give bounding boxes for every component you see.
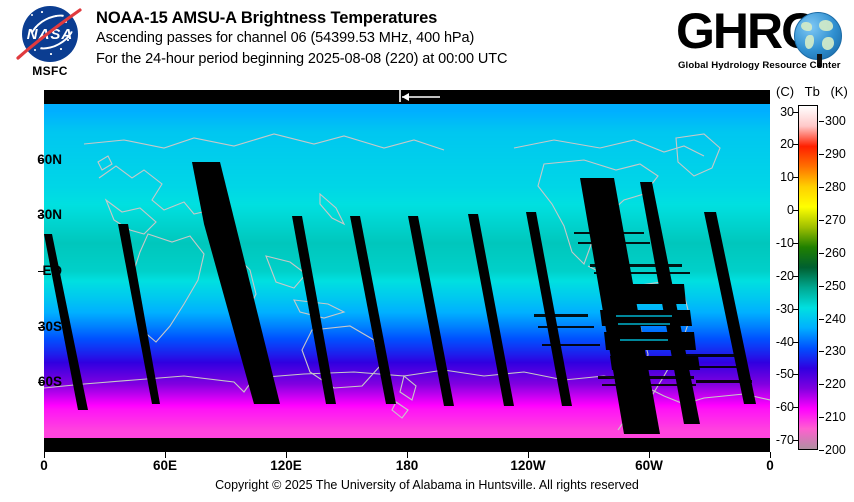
brightness-temperature-field	[44, 104, 770, 438]
colorbar-label-kelvin: 200	[825, 443, 846, 457]
colorbar-label-kelvin: 230	[825, 344, 846, 358]
page-period: For the 24-hour period beginning 2025-08…	[96, 49, 507, 70]
colorbar-label-kelvin: 220	[825, 377, 846, 391]
latitude-tick-label: EQ	[42, 263, 62, 278]
colorbar-tick-kelvin	[819, 450, 824, 451]
colorbar-label-celsius: -10	[772, 236, 794, 250]
ghrc-logo: GHRC Global Hydrology Resource Center	[676, 4, 848, 78]
longitude-tick-label: 0	[40, 458, 48, 473]
colorbar-label-kelvin: 260	[825, 246, 846, 260]
nasa-logo: NASA MSFC	[14, 6, 86, 84]
colorbar-gradient	[799, 106, 817, 449]
longitude-tick-label: 60W	[635, 458, 663, 473]
colorbar-label-celsius: -30	[772, 302, 794, 316]
colorbar-tick-kelvin	[819, 253, 824, 254]
map-plot-area	[44, 90, 770, 452]
colorbar-label-celsius: -50	[772, 367, 794, 381]
colorbar-tick-kelvin	[819, 154, 824, 155]
colorbar-label-celsius: 0	[772, 203, 794, 217]
satellite-swath-gaps	[44, 104, 770, 438]
colorbar-header: (C) Tb (K)	[776, 84, 848, 99]
colorbar-label-celsius: -20	[772, 269, 794, 283]
nasa-center-label: MSFC	[14, 64, 86, 78]
colorbar-tick-kelvin	[819, 220, 824, 221]
colorbar-label-kelvin: 270	[825, 213, 846, 227]
nasa-wordmark: NASA	[22, 26, 78, 43]
colorbar-tick-kelvin	[819, 351, 824, 352]
map-bottom-border	[44, 438, 770, 452]
colorbar-unit-celsius: (C)	[776, 84, 794, 99]
colorbar-label-kelvin: 240	[825, 312, 846, 326]
colorbar-label-kelvin: 300	[825, 114, 846, 128]
longitude-tick-label: 120W	[510, 458, 545, 473]
left-arrow-marker-icon	[396, 90, 442, 103]
colorbar-tick-kelvin	[819, 417, 824, 418]
colorbar-label-celsius: -70	[772, 433, 794, 447]
longitude-tick-label: 0	[766, 458, 774, 473]
title-block: NOAA-15 AMSU-A Brightness Temperatures A…	[96, 8, 507, 70]
latitude-tick-label: 60N	[37, 152, 62, 167]
colorbar-label-celsius: 10	[772, 170, 794, 184]
colorbar-label-kelvin: 210	[825, 410, 846, 424]
globe-icon	[794, 12, 842, 60]
brightness-temperature-map-page: NASA MSFC NOAA-15 AMSU-A Brightness Temp…	[0, 0, 854, 502]
colorbar-label-celsius: -40	[772, 335, 794, 349]
colorbar-label-celsius: 20	[772, 137, 794, 151]
colorbar	[798, 105, 818, 450]
colorbar-tick-kelvin	[819, 286, 824, 287]
colorbar-label-kelvin: 250	[825, 279, 846, 293]
colorbar-label-kelvin: 280	[825, 180, 846, 194]
ghrc-subtitle: Global Hydrology Resource Center	[678, 60, 841, 71]
colorbar-unit-kelvin: (K)	[830, 84, 847, 99]
page-subtitle: Ascending passes for channel 06 (54399.5…	[96, 28, 507, 49]
colorbar-label-celsius: -60	[772, 400, 794, 414]
longitude-tick-label: 180	[396, 458, 419, 473]
colorbar-tick-kelvin	[819, 319, 824, 320]
colorbar-tick-kelvin	[819, 384, 824, 385]
longitude-tick-label: 120E	[270, 458, 302, 473]
latitude-tick-label: 60S	[38, 374, 62, 389]
longitude-tick-label: 60E	[153, 458, 177, 473]
colorbar-label-kelvin: 290	[825, 147, 846, 161]
copyright-text: Copyright © 2025 The University of Alaba…	[0, 478, 854, 492]
latitude-tick-label: 30S	[38, 319, 62, 334]
page-title: NOAA-15 AMSU-A Brightness Temperatures	[96, 8, 507, 28]
colorbar-tick-kelvin	[819, 187, 824, 188]
latitude-tick-label: 30N	[37, 207, 62, 222]
colorbar-variable-label: Tb	[805, 84, 820, 99]
nasa-meatball-icon: NASA	[22, 6, 78, 62]
colorbar-tick-kelvin	[819, 121, 824, 122]
colorbar-label-celsius: 30	[772, 105, 794, 119]
